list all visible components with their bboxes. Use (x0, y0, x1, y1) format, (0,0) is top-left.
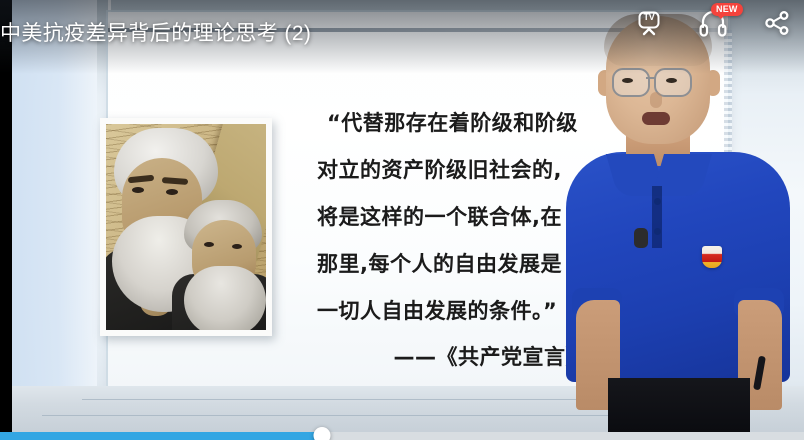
share-button[interactable] (760, 6, 794, 40)
marx-eye-right (166, 189, 178, 195)
presenter (560, 0, 804, 432)
slide-quote-text: “代替那存在着阶级和阶级 对立的资产阶级旧社会的, 将是这样的一个联合体,在 那… (317, 100, 587, 335)
headphones-audio-mode-button[interactable]: NEW (696, 6, 730, 40)
presenter-clip-microphone (634, 228, 648, 248)
letterbox-bar-left (0, 0, 12, 432)
presenter-eyeglass-bridge (646, 77, 656, 79)
engels-beard (184, 266, 266, 330)
cast-to-tv-button[interactable]: TV (632, 6, 666, 40)
video-title: 中美抗疫差异背后的理论思考 (2) (0, 17, 311, 47)
presenter-eye-right (666, 78, 677, 83)
quote-line-2: 对立的资产阶级旧社会的, (317, 147, 587, 194)
marx-engels-portrait (100, 118, 272, 336)
progress-played (0, 432, 322, 440)
slide-quote-attribution: ——《共产党宣言》 (317, 341, 587, 371)
progress-scrubber-handle[interactable] (313, 427, 330, 440)
quote-line-5: 一切人自由发展的条件。” (317, 288, 587, 335)
quote-line-1: “代替那存在着阶级和阶级 (317, 100, 587, 147)
presenter-shirt-placket (652, 186, 662, 248)
player-action-bar: TV NEW (632, 6, 794, 40)
presenter-party-emblem-pin (702, 246, 722, 268)
marx-eye-left (132, 187, 144, 193)
video-frame: “代替那存在着阶级和阶级 对立的资产阶级旧社会的, 将是这样的一个联合体,在 那… (12, 0, 804, 432)
new-badge: NEW (711, 3, 743, 16)
presenter-trousers (608, 378, 750, 432)
share-icon (763, 9, 791, 37)
presenter-eye-left (622, 78, 633, 83)
video-progress-bar[interactable] (0, 432, 804, 440)
engels-eye-left (204, 242, 214, 247)
presenter-shirt-button (654, 198, 661, 205)
classroom-wall-panel (12, 0, 97, 432)
quote-line-3: 将是这样的一个联合体,在 (317, 194, 587, 241)
presenter-eyeglass-left (612, 68, 650, 97)
presenter-shirt-button (654, 228, 661, 235)
engels-eye-right (232, 244, 242, 249)
quote-line-4: 那里,每个人的自由发展是 (317, 241, 587, 288)
portrait-manuscript-background (106, 124, 266, 330)
presenter-mouth (642, 112, 670, 125)
tv-icon (634, 8, 664, 38)
presenter-nose (650, 92, 662, 108)
video-player[interactable]: “代替那存在着阶级和阶级 对立的资产阶级旧社会的, 将是这样的一个联合体,在 那… (0, 0, 804, 440)
